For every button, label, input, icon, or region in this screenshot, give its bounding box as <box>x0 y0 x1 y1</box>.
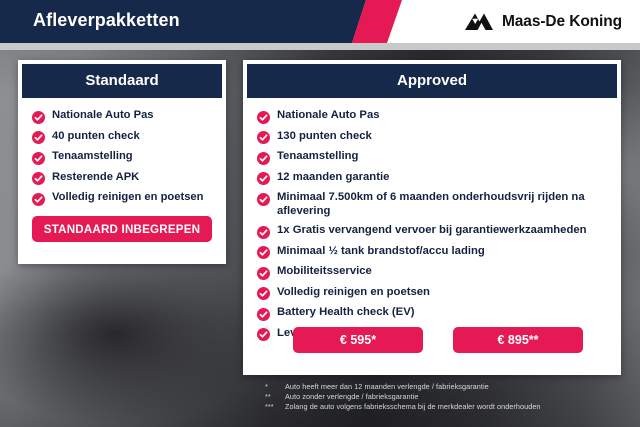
standaard-inbegrepen-button[interactable]: STANDAARD INBEGREPEN <box>32 216 212 242</box>
check-circle-icon <box>257 131 270 144</box>
feature-label: Tenaamstelling <box>52 150 133 164</box>
check-circle-icon <box>32 172 45 185</box>
check-circle-icon <box>257 287 270 300</box>
maas-de-koning-logo-icon <box>464 12 494 32</box>
price-button-row: € 595*€ 895** <box>293 327 583 353</box>
footnote-marker: ** <box>265 392 285 402</box>
feature-label: Mobiliteitsservice <box>277 265 372 279</box>
feature-label: 1x Gratis vervangend vervoer bij garanti… <box>277 224 587 238</box>
feature-list-standaard: Nationale Auto Pas40 punten checkTenaams… <box>32 98 216 206</box>
footnote-marker: * <box>265 382 285 392</box>
feature-item: Minimaal ½ tank brandstof/accu lading <box>257 245 611 260</box>
page-title: Afleverpakketten <box>33 10 180 31</box>
footnotes: *Auto heeft meer dan 12 maanden verlengd… <box>265 382 635 412</box>
footnote-text: Auto zonder verlengde / fabrieksgarantie <box>285 392 635 402</box>
price-button-2[interactable]: € 895** <box>453 327 583 353</box>
feature-item: 130 punten check <box>257 130 611 145</box>
feature-label: Volledig reinigen en poetsen <box>52 191 203 205</box>
footnote-text: Zolang de auto volgens fabrieksschema bi… <box>285 402 635 412</box>
feature-label: 40 punten check <box>52 130 140 144</box>
header-underline <box>0 43 640 50</box>
feature-item: Nationale Auto Pas <box>257 109 611 124</box>
brand-lockup: Maas-De Koning <box>464 0 622 43</box>
feature-label: Tenaamstelling <box>277 150 358 164</box>
footnote-marker: *** <box>265 402 285 412</box>
card-title-standaard: Standaard <box>22 64 222 98</box>
feature-label: Nationale Auto Pas <box>277 109 380 123</box>
check-circle-icon <box>257 308 270 321</box>
feature-item: 1x Gratis vervangend vervoer bij garanti… <box>257 224 611 239</box>
feature-label: Minimaal 7.500km of 6 maanden onderhouds… <box>277 191 611 218</box>
check-circle-icon <box>257 267 270 280</box>
feature-item: Nationale Auto Pas <box>32 109 216 124</box>
feature-label: 12 maanden garantie <box>277 171 389 185</box>
feature-item: Mobiliteitsservice <box>257 265 611 280</box>
feature-item: 12 maanden garantie <box>257 171 611 186</box>
feature-label: 130 punten check <box>277 130 372 144</box>
brand-name: Maas-De Koning <box>502 13 622 31</box>
feature-item: Battery Health check (EV) <box>257 306 611 321</box>
check-circle-icon <box>257 111 270 124</box>
feature-item: Volledig reinigen en poetsen <box>257 286 611 301</box>
price-button-1[interactable]: € 595* <box>293 327 423 353</box>
package-card-standaard: Standaard Nationale Auto Pas40 punten ch… <box>18 60 226 264</box>
footnote-text: Auto heeft meer dan 12 maanden verlengde… <box>285 382 635 392</box>
footnote-row: *Auto heeft meer dan 12 maanden verlengd… <box>265 382 635 392</box>
feature-item: Minimaal 7.500km of 6 maanden onderhouds… <box>257 191 611 218</box>
check-circle-icon <box>257 246 270 259</box>
feature-item: Resterende APK <box>32 171 216 186</box>
page-header: Afleverpakketten Maas-De Koning <box>0 0 640 43</box>
feature-label: Battery Health check (EV) <box>277 306 415 320</box>
feature-label: Resterende APK <box>52 171 139 185</box>
feature-label: Minimaal ½ tank brandstof/accu lading <box>277 245 485 259</box>
check-circle-icon <box>32 131 45 144</box>
footnote-row: ***Zolang de auto volgens fabrieksschema… <box>265 402 635 412</box>
footnote-row: **Auto zonder verlengde / fabrieksgarant… <box>265 392 635 402</box>
feature-label: Nationale Auto Pas <box>52 109 154 123</box>
card-title-approved: Approved <box>247 64 617 98</box>
feature-item: Volledig reinigen en poetsen <box>32 191 216 206</box>
package-card-approved: Approved Nationale Auto Pas130 punten ch… <box>243 60 621 375</box>
check-circle-icon <box>257 152 270 165</box>
feature-item: 40 punten check <box>32 130 216 145</box>
check-circle-icon <box>257 193 270 206</box>
feature-item: Tenaamstelling <box>32 150 216 165</box>
check-circle-icon <box>257 328 270 341</box>
feature-item: Tenaamstelling <box>257 150 611 165</box>
feature-label: Volledig reinigen en poetsen <box>277 286 430 300</box>
check-circle-icon <box>32 193 45 206</box>
feature-list-approved: Nationale Auto Pas130 punten checkTenaam… <box>257 98 611 341</box>
check-circle-icon <box>257 172 270 185</box>
check-circle-icon <box>32 111 45 124</box>
check-circle-icon <box>257 226 270 239</box>
check-circle-icon <box>32 152 45 165</box>
